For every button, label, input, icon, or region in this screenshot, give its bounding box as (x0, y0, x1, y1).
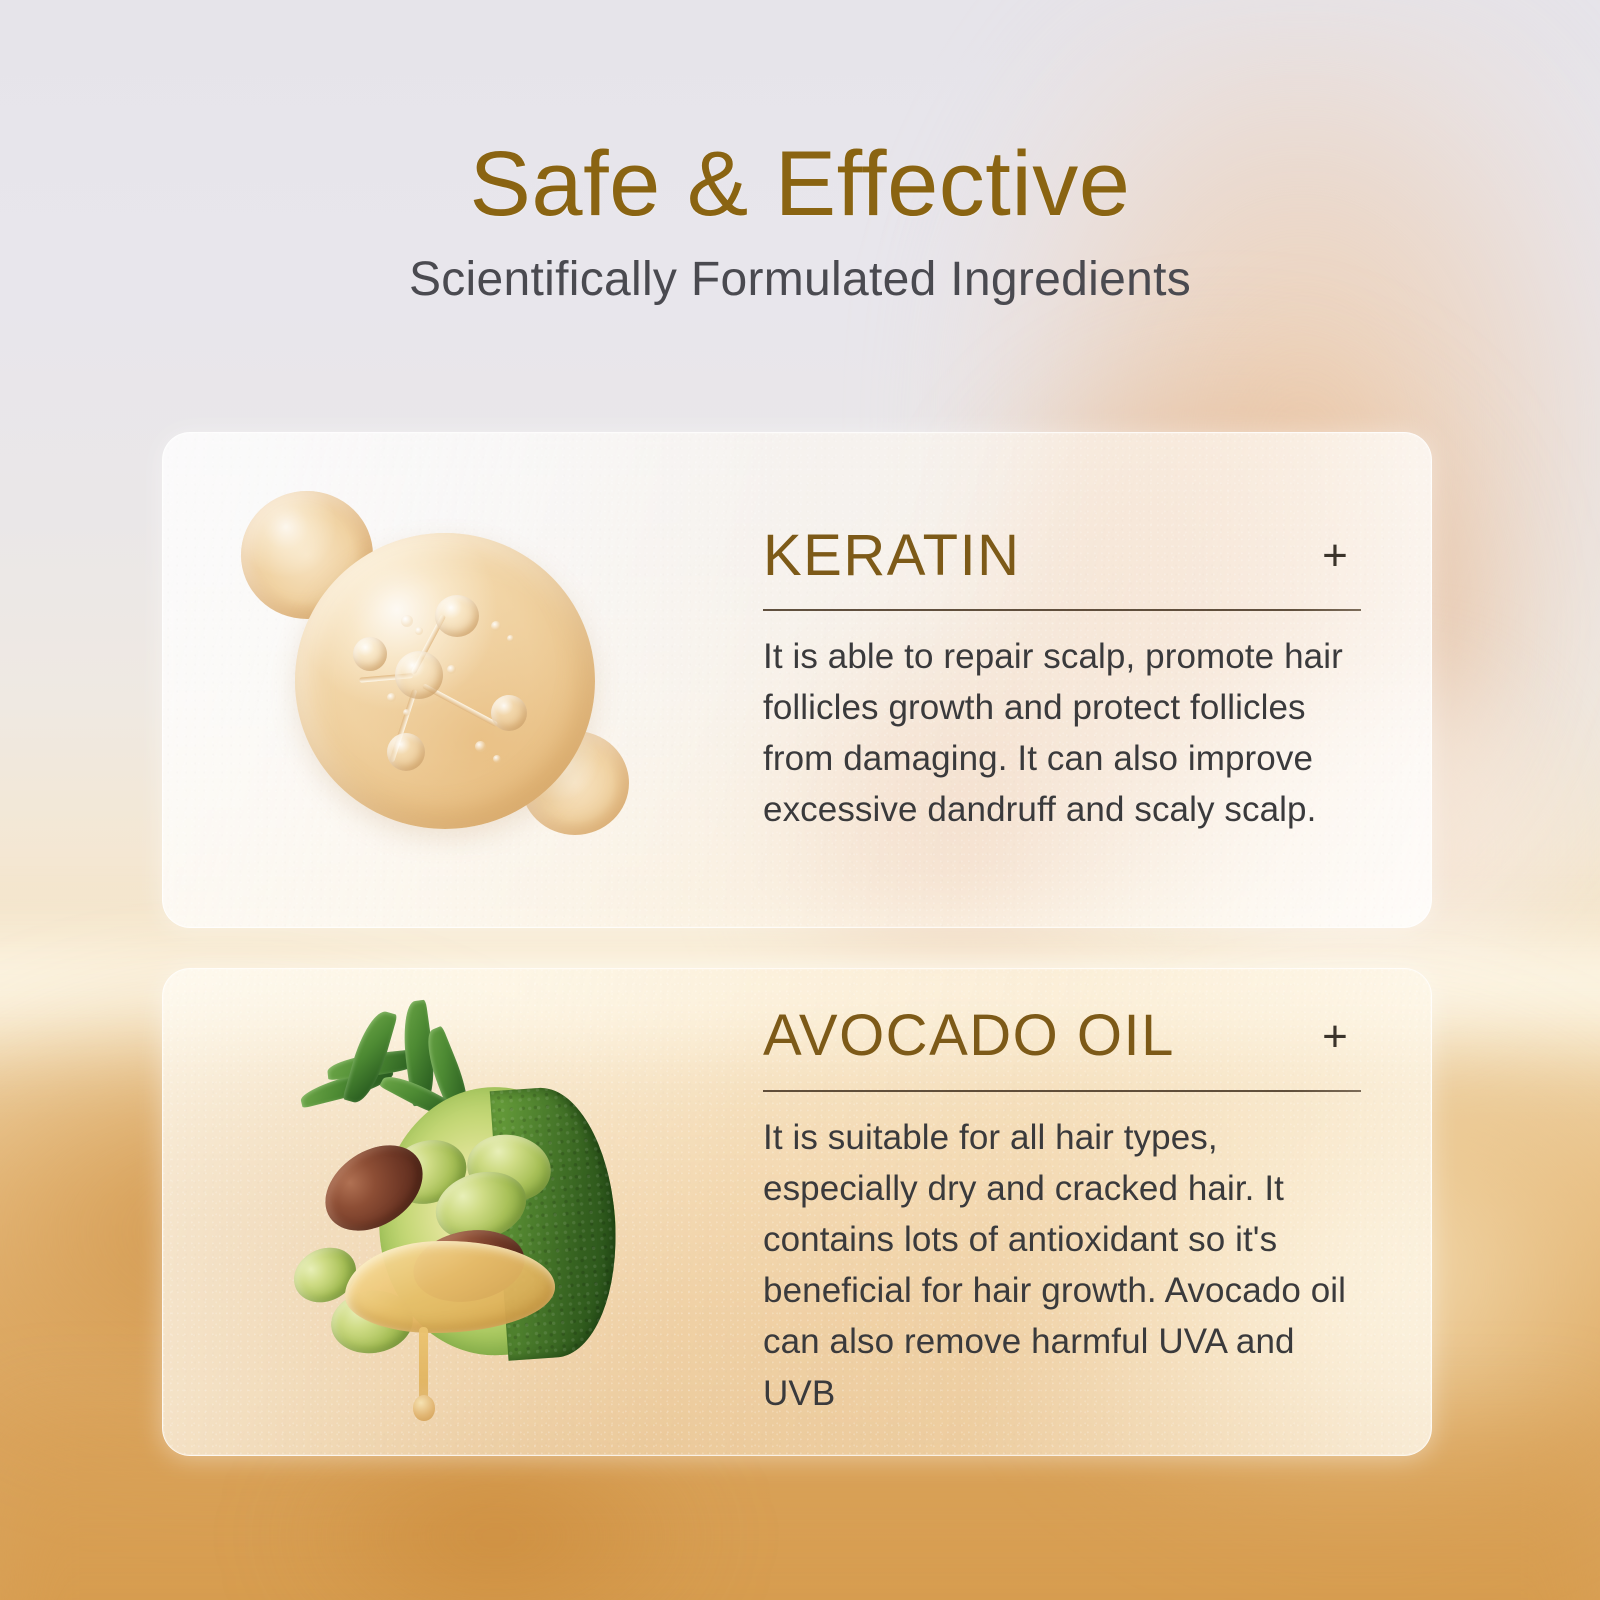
bubble-2 (415, 627, 423, 635)
avocado-oil-drip (419, 1327, 428, 1405)
page-header: Safe & Effective Scientifically Formulat… (0, 0, 1600, 304)
bubble-8 (493, 755, 501, 763)
molecule-node-right (491, 695, 527, 731)
avocado-image-container (163, 969, 763, 1455)
molecule-node-left (353, 637, 387, 671)
keratin-description: It is able to repair scalp, promote hair… (763, 631, 1361, 835)
page-title: Safe & Effective (0, 0, 1600, 230)
plus-icon[interactable]: + (1313, 534, 1357, 578)
bubble-5 (387, 693, 396, 702)
molecule-node-center (395, 651, 443, 699)
serum-main-droplet (295, 533, 595, 829)
bubble-9 (447, 665, 456, 674)
ingredient-card-avocado-oil[interactable]: AVOCADO OIL + It is suitable for all hai… (162, 968, 1432, 1456)
keratin-title: KERATIN (763, 525, 1021, 588)
molecule-node-bottom (387, 733, 425, 771)
keratin-card-body: KERATIN + It is able to repair scalp, pr… (763, 525, 1431, 836)
avocado-oil-description: It is suitable for all hair types, espec… (763, 1112, 1361, 1419)
keratin-heading-row: KERATIN + (763, 525, 1361, 588)
keratin-image-container (163, 433, 763, 927)
keratin-serum-droplet-molecule-image (221, 475, 691, 885)
bubble-7 (475, 741, 486, 752)
avocado-heading-row: AVOCADO OIL + (763, 1005, 1361, 1068)
plus-icon[interactable]: + (1313, 1015, 1357, 1059)
avocado-oil-droplet (413, 1395, 435, 1421)
keratin-divider (763, 609, 1361, 611)
avocado-card-body: AVOCADO OIL + It is suitable for all hai… (763, 1005, 1431, 1418)
page-subtitle: Scientifically Formulated Ingredients (0, 230, 1600, 304)
avocado-olives-oil-image (283, 991, 703, 1431)
avocado-divider (763, 1090, 1361, 1092)
molecule-node-top (435, 595, 479, 637)
avocado-oil-title: AVOCADO OIL (763, 1005, 1175, 1068)
bubble-6 (403, 709, 410, 716)
bubble-4 (507, 635, 514, 642)
ingredient-card-keratin[interactable]: KERATIN + It is able to repair scalp, pr… (162, 432, 1432, 928)
bubble-3 (491, 621, 501, 631)
bubble-1 (401, 615, 413, 627)
